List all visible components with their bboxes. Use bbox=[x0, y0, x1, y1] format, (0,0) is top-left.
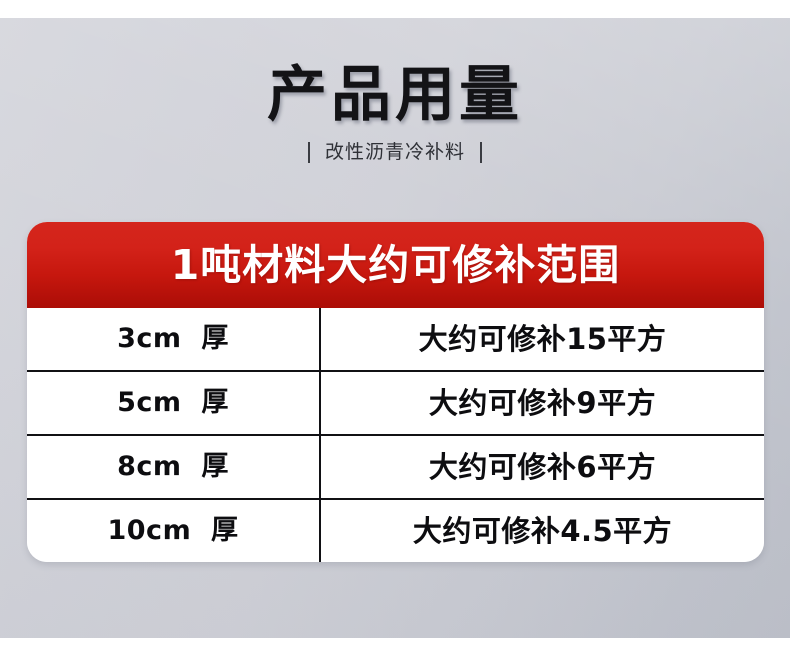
table-banner-header: 1吨材料大约可修补范围 bbox=[27, 222, 764, 308]
thickness-cell: 10cm 厚 bbox=[27, 500, 321, 562]
usage-table: 3cm 厚 大约可修补15平方 5cm 厚 大约可修补9平方 8cm 厚 bbox=[27, 308, 764, 562]
thickness-cell: 5cm 厚 bbox=[27, 372, 321, 434]
thickness-cell: 8cm 厚 bbox=[27, 436, 321, 498]
coverage-cell: 大约可修补9平方 bbox=[321, 372, 764, 434]
thickness-cell: 3cm 厚 bbox=[27, 308, 321, 370]
thickness-value: 3cm 厚 bbox=[117, 324, 229, 354]
coverage-value: 大约可修补15平方 bbox=[419, 323, 667, 355]
subtitle-row: 改性沥青冷补料 bbox=[0, 140, 790, 164]
thickness-value: 10cm 厚 bbox=[107, 516, 238, 546]
subtitle-left-bar-icon bbox=[308, 142, 310, 163]
banner-title: 1吨材料大约可修补范围 bbox=[171, 242, 621, 288]
coverage-cell: 大约可修补15平方 bbox=[321, 308, 764, 370]
product-usage-infographic: 产品用量 改性沥青冷补料 1吨材料大约可修补范围 3cm 厚 大约可修补15平方 bbox=[0, 0, 790, 651]
coverage-value: 大约可修补4.5平方 bbox=[413, 515, 672, 547]
coverage-cell: 大约可修补4.5平方 bbox=[321, 500, 764, 562]
table-row: 10cm 厚 大约可修补4.5平方 bbox=[27, 498, 764, 562]
subtitle-right-bar-icon bbox=[480, 142, 482, 163]
coverage-value: 大约可修补6平方 bbox=[429, 451, 656, 483]
coverage-cell: 大约可修补6平方 bbox=[321, 436, 764, 498]
page-title: 产品用量 bbox=[0, 60, 790, 130]
table-row: 5cm 厚 大约可修补9平方 bbox=[27, 370, 764, 434]
table-row: 8cm 厚 大约可修补6平方 bbox=[27, 434, 764, 498]
thickness-value: 8cm 厚 bbox=[117, 452, 229, 482]
coverage-value: 大约可修补9平方 bbox=[429, 387, 656, 419]
usage-table-card: 1吨材料大约可修补范围 3cm 厚 大约可修补15平方 5cm 厚 大约可修补9… bbox=[27, 222, 764, 562]
page-subtitle: 改性沥青冷补料 bbox=[325, 140, 465, 164]
header-block: 产品用量 改性沥青冷补料 bbox=[0, 60, 790, 164]
table-row: 3cm 厚 大约可修补15平方 bbox=[27, 308, 764, 370]
thickness-value: 5cm 厚 bbox=[117, 388, 229, 418]
